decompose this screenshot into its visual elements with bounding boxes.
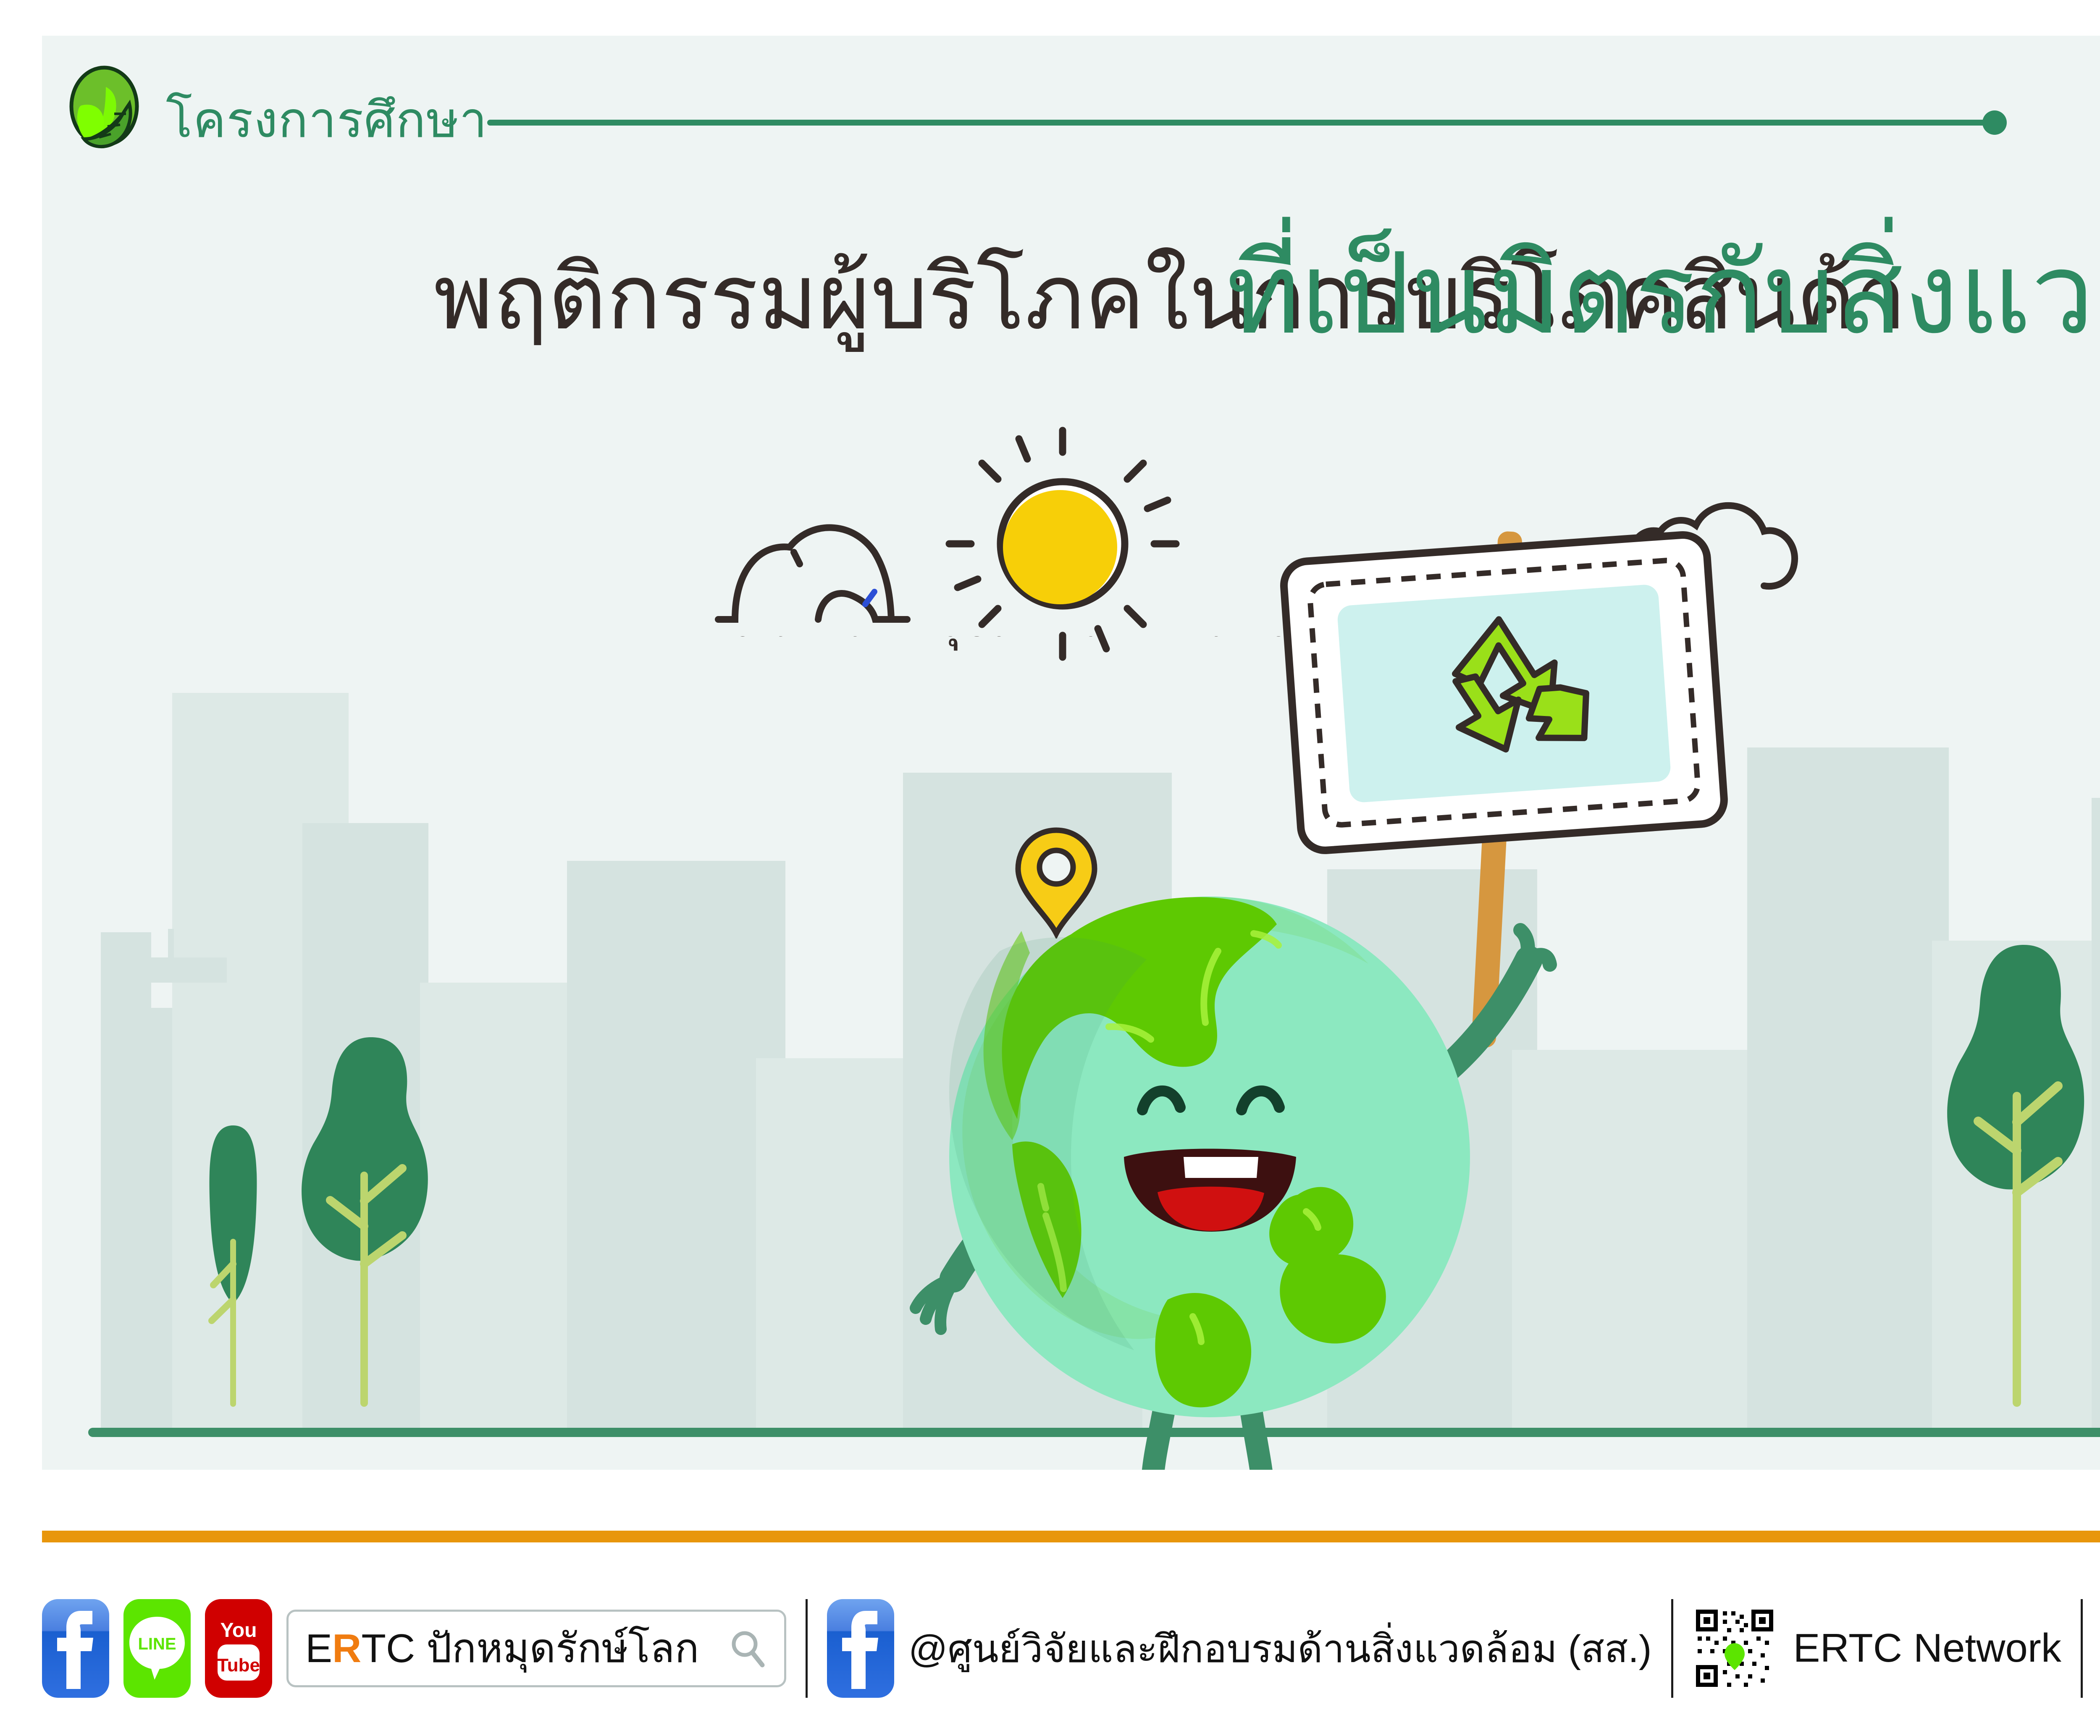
header-rule	[487, 120, 1987, 126]
footer-group-ertc-network: ERTC Network	[1693, 1594, 2061, 1703]
line-wordmark: LINE	[138, 1635, 176, 1653]
page-title-highlight: ที่เป็นมิตรกับสิ่งแวดล้อม	[1226, 204, 2100, 383]
facebook-icon[interactable]	[827, 1599, 894, 1698]
facebook-icon[interactable]	[42, 1599, 109, 1698]
facebook-page-handle[interactable]: @ศูนย์วิจัยและฝึกอบรมด้านสิ่งแวดล้อม (สส…	[908, 1618, 1652, 1679]
youtube-label-top: You	[220, 1619, 257, 1642]
footer-bar: LINE You Tube ERTC ปักหมุดรักษ์โลก	[42, 1579, 2100, 1718]
tree-right-a	[1932, 932, 2100, 1407]
youtube-icon[interactable]: You Tube	[205, 1599, 272, 1698]
building	[101, 932, 151, 1428]
search-highlight-letter: R	[332, 1626, 361, 1671]
building-roof	[118, 957, 227, 983]
tree-left-large	[290, 1029, 441, 1407]
line-icon[interactable]: LINE	[123, 1599, 191, 1698]
search-icon[interactable]	[727, 1628, 767, 1668]
footer-divider	[2081, 1599, 2083, 1698]
area-caption-text: ในพื้นที่กรุงเทพมหานคร	[722, 636, 1290, 651]
brand-label: โครงการศึกษา	[166, 80, 488, 159]
earth-right-leg	[1252, 1413, 1263, 1470]
poster-root: ในพื้นที่กรุงเทพมหานคร	[0, 0, 2100, 1736]
search-input[interactable]: ERTC ปักหมุดรักษ์โลก	[286, 1610, 786, 1687]
footer-divider	[1671, 1599, 1673, 1698]
cloud-left-icon	[710, 493, 1004, 632]
header-rule-endpoint	[1982, 110, 2007, 135]
search-value: ERTC ปักหมุดรักษ์โลก	[305, 1616, 699, 1680]
earth-character	[874, 825, 1579, 1470]
building-antenna	[168, 929, 174, 958]
building	[1747, 747, 1949, 1428]
footer-group-social: LINE You Tube ERTC ปักหมุดรักษ์โลก	[42, 1594, 786, 1703]
footer-group-facebook-page: @ศูนย์วิจัยและฝึกอบรมด้านสิ่งแวดล้อม (สส…	[827, 1594, 1652, 1703]
leaf-circle-icon	[67, 65, 151, 149]
earth-left-leg	[1152, 1413, 1163, 1470]
qr-code-icon[interactable]	[1693, 1606, 1777, 1690]
youtube-label-bottom: Tube	[217, 1655, 260, 1676]
earth-teeth	[1184, 1157, 1258, 1178]
illustration-panel: ในพื้นที่กรุงเทพมหานคร	[42, 36, 2100, 1470]
footer-divider	[806, 1599, 808, 1698]
building	[420, 983, 580, 1428]
brand-row: โครงการศึกษา	[67, 61, 2100, 141]
ertc-network-label: ERTC Network	[1793, 1625, 2061, 1671]
building	[567, 861, 785, 1428]
tree-left-small	[193, 1113, 273, 1407]
orange-divider	[42, 1531, 2100, 1542]
